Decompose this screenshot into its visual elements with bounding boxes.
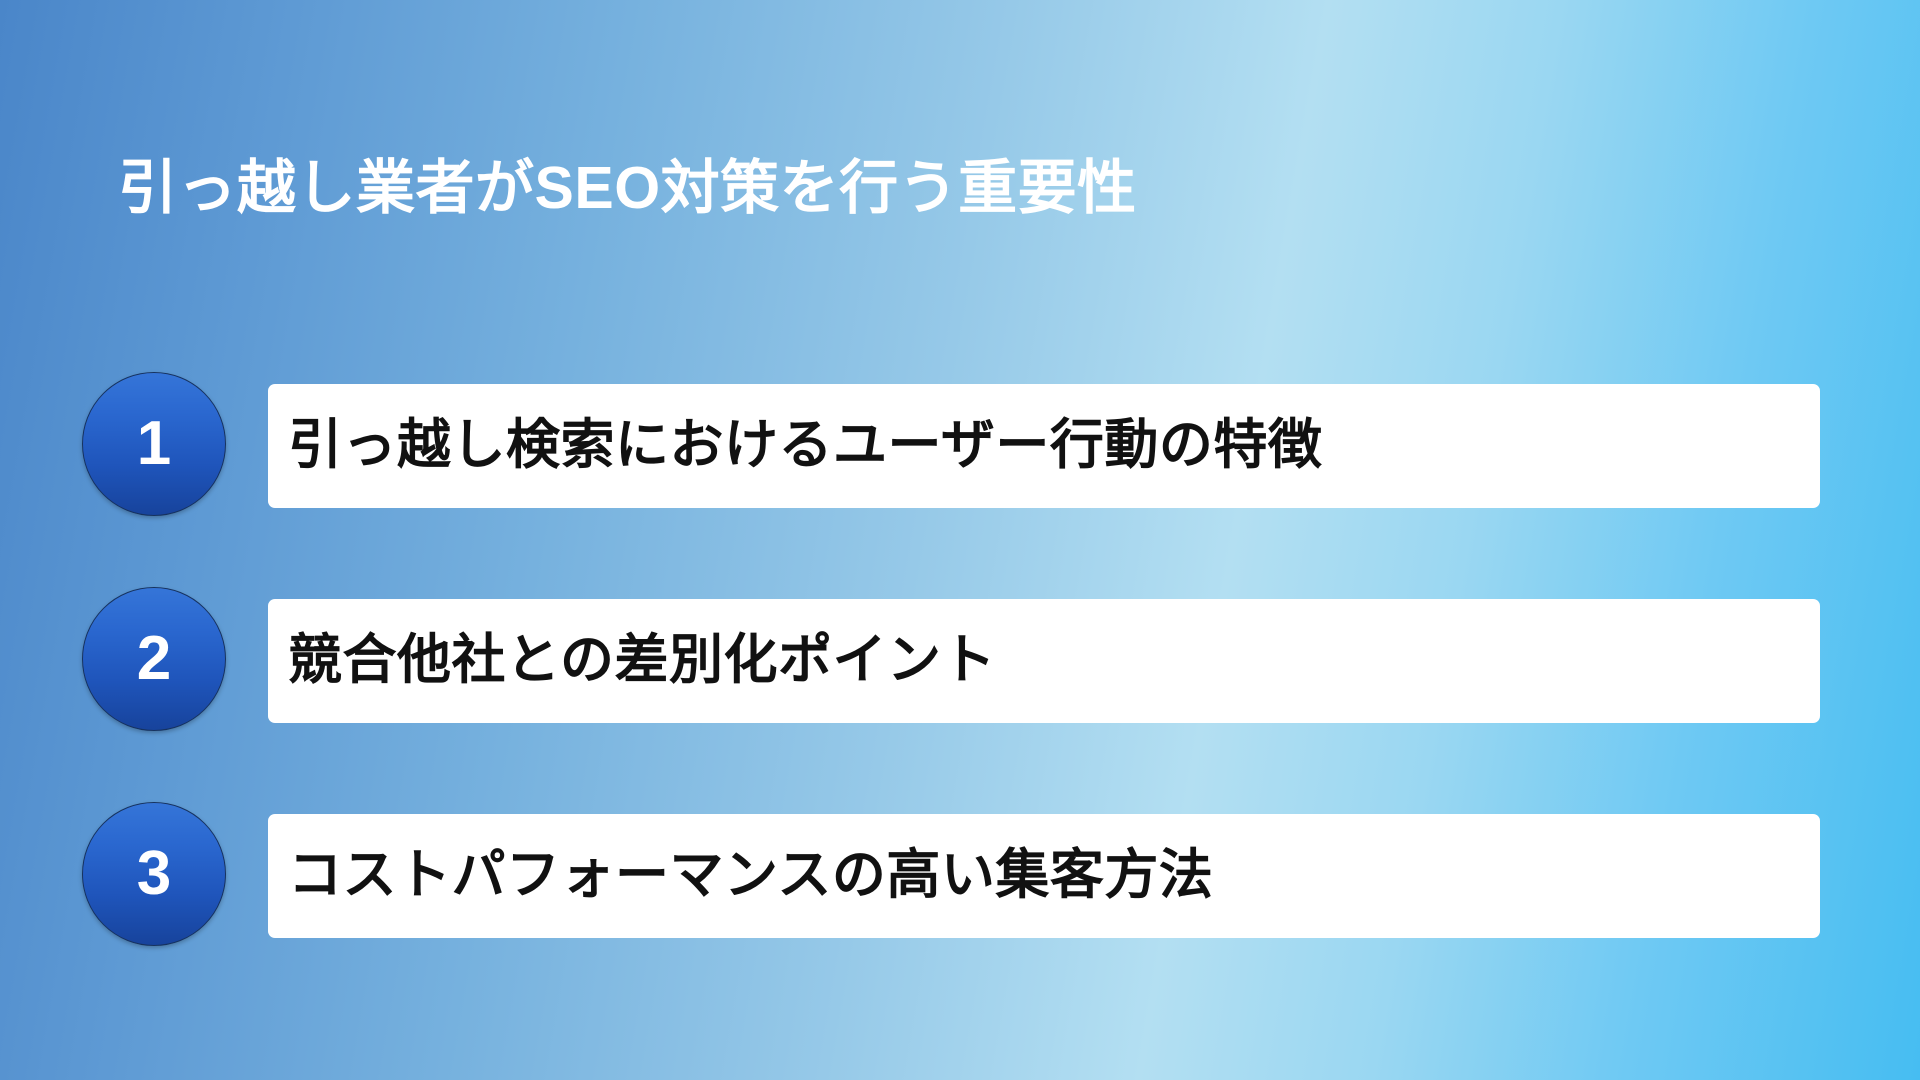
list-item-number-badge: 1 xyxy=(82,372,226,516)
list-item-card[interactable]: 競合他社との差別化ポイント xyxy=(268,599,1820,723)
list-item[interactable]: 3 コストパフォーマンスの高い集客方法 xyxy=(0,802,1920,946)
list-item-label: 競合他社との差別化ポイント xyxy=(268,631,996,690)
list-item-card[interactable]: コストパフォーマンスの高い集客方法 xyxy=(268,814,1820,938)
list-item[interactable]: 2 競合他社との差別化ポイント xyxy=(0,587,1920,731)
list-item-number: 1 xyxy=(137,413,171,475)
list-item[interactable]: 1 引っ越し検索におけるユーザー行動の特徴 xyxy=(0,372,1920,516)
list-item-card[interactable]: 引っ越し検索におけるユーザー行動の特徴 xyxy=(268,384,1820,508)
list-item-number: 3 xyxy=(137,843,171,905)
list-item-number-badge: 3 xyxy=(82,802,226,946)
numbered-list: 1 引っ越し検索におけるユーザー行動の特徴 2 競合他社との差別化ポイント 3 … xyxy=(0,372,1920,946)
list-item-label: コストパフォーマンスの高い集客方法 xyxy=(268,846,1213,905)
slide-canvas: 引っ越し業者がSEO対策を行う重要性 1 引っ越し検索におけるユーザー行動の特徴… xyxy=(0,0,1920,1080)
list-item-label: 引っ越し検索におけるユーザー行動の特徴 xyxy=(268,416,1322,475)
page-title: 引っ越し業者がSEO対策を行う重要性 xyxy=(92,156,1137,221)
title-banner: 引っ越し業者がSEO対策を行う重要性 xyxy=(92,92,1828,285)
list-item-number-badge: 2 xyxy=(82,587,226,731)
list-item-number: 2 xyxy=(137,628,171,690)
